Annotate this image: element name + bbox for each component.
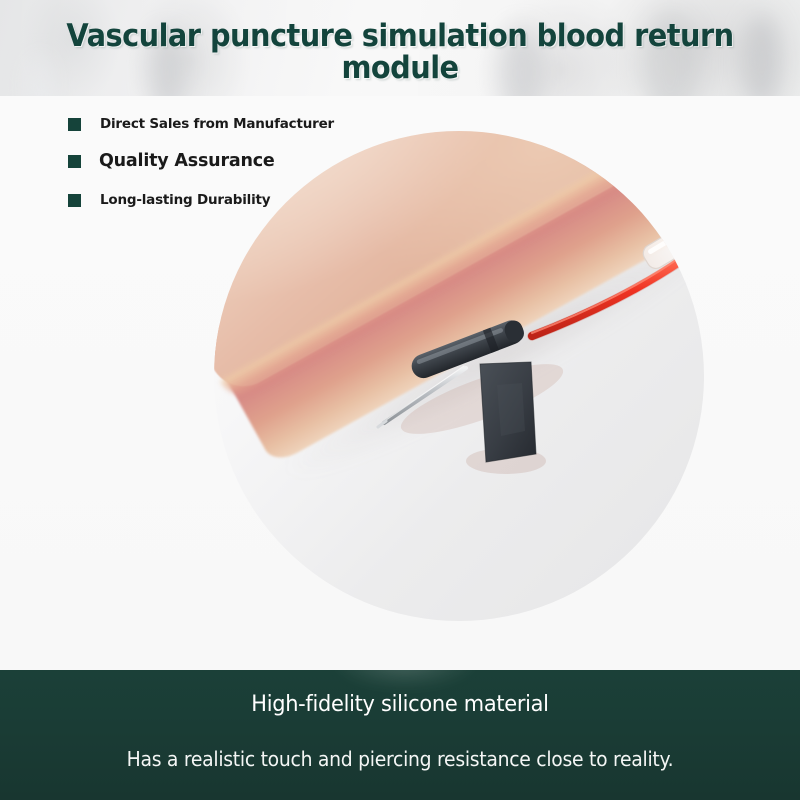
footer-banner: High-fidelity silicone material Has a re… (0, 670, 800, 800)
feature-list: Direct Sales from Manufacturer Quality A… (68, 116, 334, 208)
list-item: Quality Assurance (68, 151, 334, 171)
square-bullet-icon (68, 194, 81, 207)
main-content-panel: Direct Sales from Manufacturer Quality A… (0, 96, 800, 670)
banner-subheading: Has a realistic touch and piercing resis… (24, 747, 776, 771)
feature-label: Direct Sales from Manufacturer (100, 116, 334, 132)
square-bullet-icon (68, 118, 81, 131)
feature-label: Quality Assurance (99, 151, 275, 171)
square-bullet-icon (68, 155, 81, 168)
banner-heading: High-fidelity silicone material (20, 692, 780, 717)
list-item: Long-lasting Durability (68, 192, 334, 208)
feature-label: Long-lasting Durability (100, 192, 270, 208)
product-poster: Vascular puncture simulation blood retur… (0, 0, 800, 800)
page-title: Vascular puncture simulation blood retur… (28, 20, 772, 84)
list-item: Direct Sales from Manufacturer (68, 116, 334, 132)
